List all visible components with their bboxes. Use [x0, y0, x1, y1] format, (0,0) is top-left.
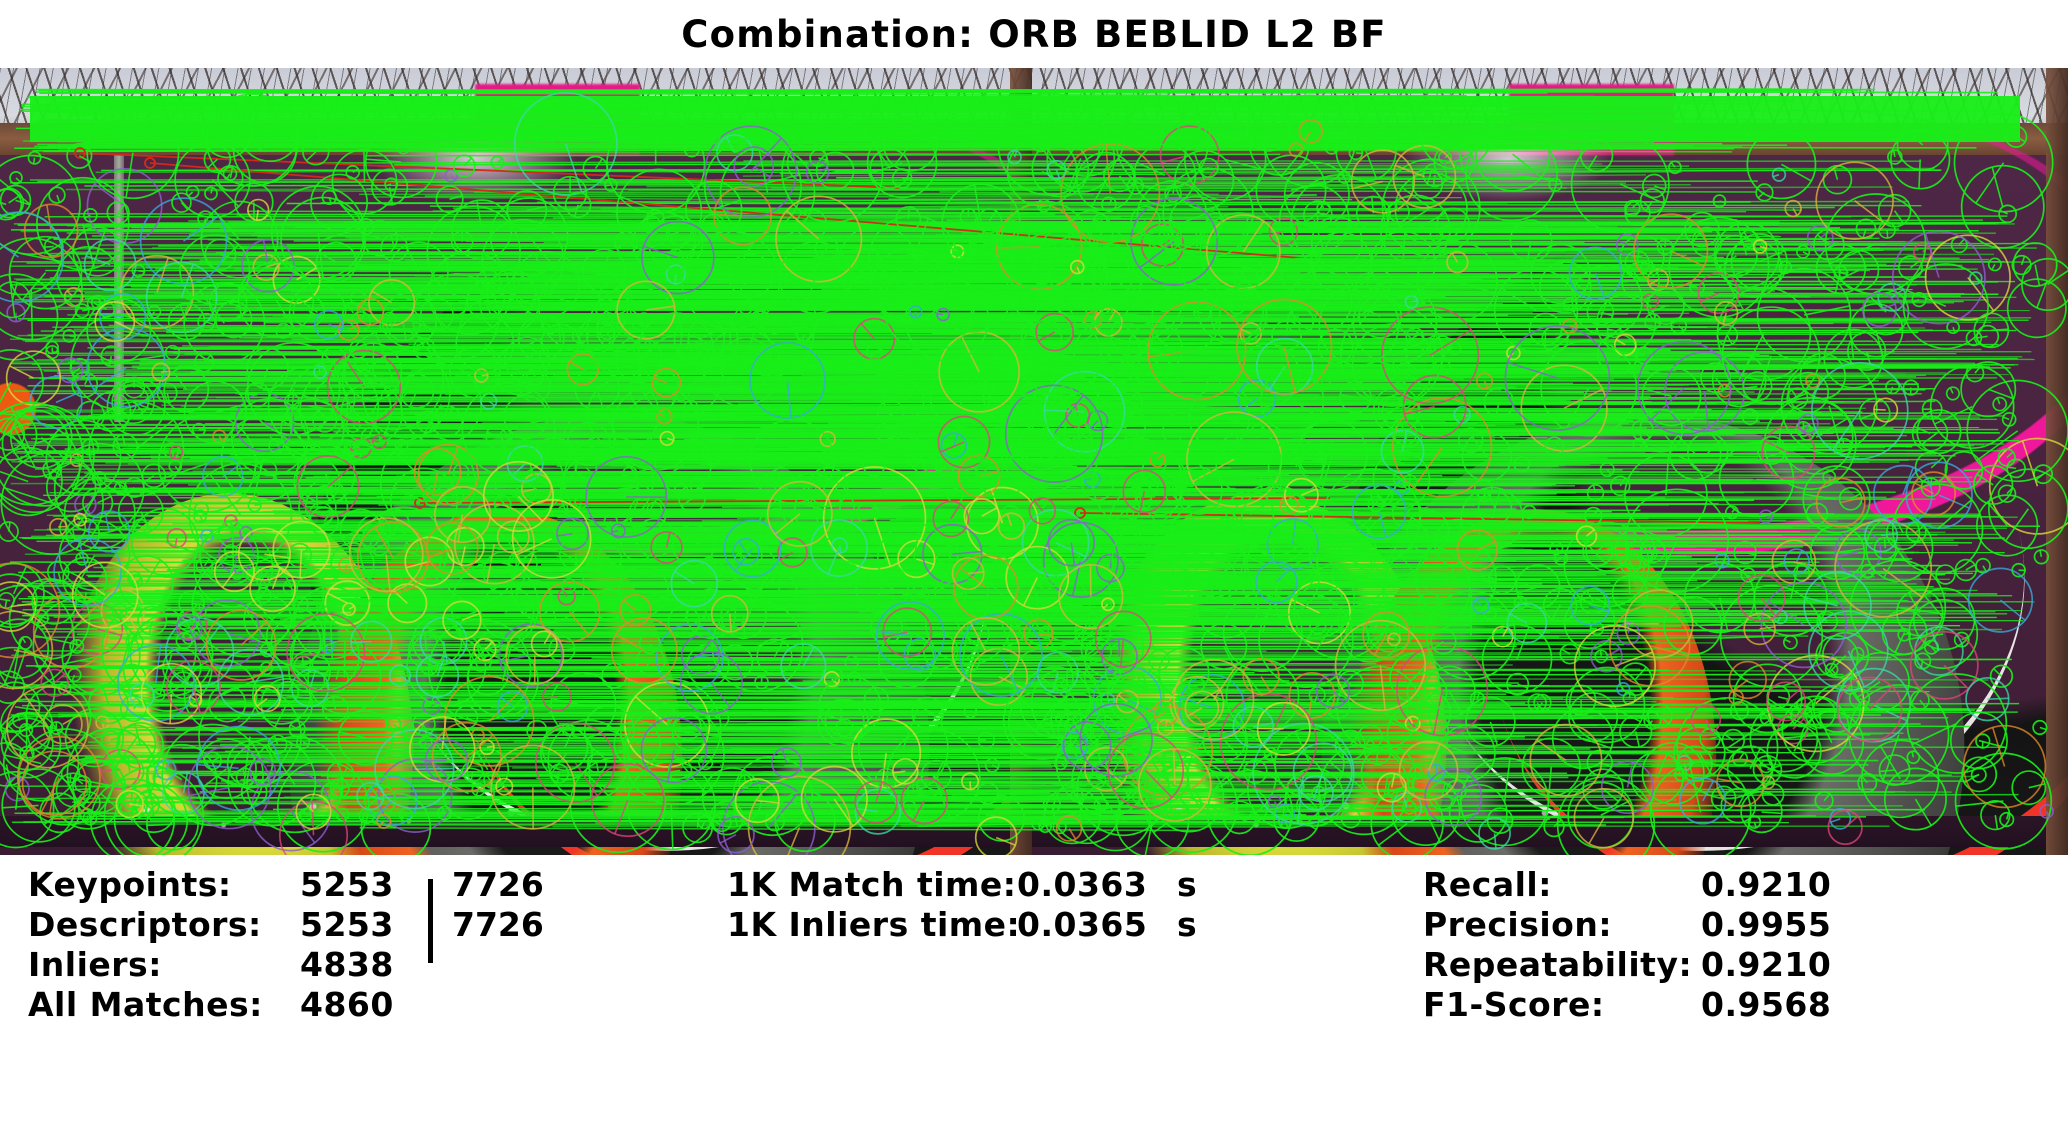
graffiti-scene-left [0, 68, 1032, 855]
stat-value-image1: 4860 [300, 985, 428, 1024]
stat-value: 0.9210 [1701, 945, 1871, 984]
stat-value-image1: 5253 [300, 865, 428, 904]
stat-value-image2: 7726 [428, 905, 544, 944]
column-divider [428, 879, 433, 963]
stat-label: 1K Match time: [727, 865, 1017, 904]
stat-value-image2: 7726 [428, 865, 544, 904]
stat-value: 0.0365 [1017, 905, 1177, 944]
stat-value: 0.9210 [1701, 865, 1871, 904]
stat-row-recall: Recall: 0.9210 [1423, 865, 1871, 905]
wall-right-edge [1010, 68, 1032, 855]
paint-speckles [1115, 792, 1757, 839]
stat-row-match-time: 1K Match time: 0.0363 s [727, 865, 1197, 905]
stat-label: All Matches: [28, 985, 300, 1024]
feature-match-panel [0, 68, 2068, 855]
stat-row-descriptors: Descriptors: 5253 7726 [28, 905, 544, 945]
right-image-pane [1032, 68, 2068, 855]
stats-column-right: Recall: 0.9210 Precision: 0.9955 Repeata… [1423, 865, 1871, 1025]
stat-label: Keypoints: [28, 865, 300, 904]
metal-pole [114, 155, 124, 423]
wall-right-edge [2046, 68, 2068, 855]
stat-value: 0.0363 [1017, 865, 1177, 904]
stat-row-all-matches: All Matches: 4860 [28, 985, 544, 1025]
stats-column-middle: 1K Match time: 0.0363 s 1K Inliers time:… [727, 865, 1197, 945]
stat-label: Recall: [1423, 865, 1701, 904]
stat-value-image1: 4838 [300, 945, 428, 984]
stat-row-inliers: Inliers: 4838 [28, 945, 544, 985]
stat-label: Precision: [1423, 905, 1701, 944]
stat-value: 0.9955 [1701, 905, 1871, 944]
paint-speckles [83, 792, 723, 839]
stat-row-keypoints: Keypoints: 5253 7726 [28, 865, 544, 905]
stat-unit: s [1177, 865, 1197, 904]
stats-column-left: Keypoints: 5253 7726 Descriptors: 5253 7… [28, 865, 544, 1025]
page-title: Combination: ORB BEBLID L2 BF [681, 13, 1387, 56]
stat-row-repeatability: Repeatability: 0.9210 [1423, 945, 1871, 985]
stat-row-f1-score: F1-Score: 0.9568 [1423, 985, 1871, 1025]
stat-label: Descriptors: [28, 905, 300, 944]
stat-label: F1-Score: [1423, 985, 1701, 1024]
title-bar: Combination: ORB BEBLID L2 BF [0, 0, 2068, 68]
stat-row-precision: Precision: 0.9955 [1423, 905, 1871, 945]
stat-label: 1K Inliers time: [727, 905, 1017, 944]
stat-label: Inliers: [28, 945, 300, 984]
left-image-pane [0, 68, 1032, 855]
stat-label: Repeatability: [1423, 945, 1701, 984]
stat-unit: s [1177, 905, 1197, 944]
graffiti-scene-right [1032, 68, 2068, 855]
statistics-panel: Keypoints: 5253 7726 Descriptors: 5253 7… [0, 855, 2068, 1122]
stat-value: 0.9568 [1701, 985, 1871, 1024]
stat-row-inliers-time: 1K Inliers time: 0.0365 s [727, 905, 1197, 945]
stat-value-image1: 5253 [300, 905, 428, 944]
